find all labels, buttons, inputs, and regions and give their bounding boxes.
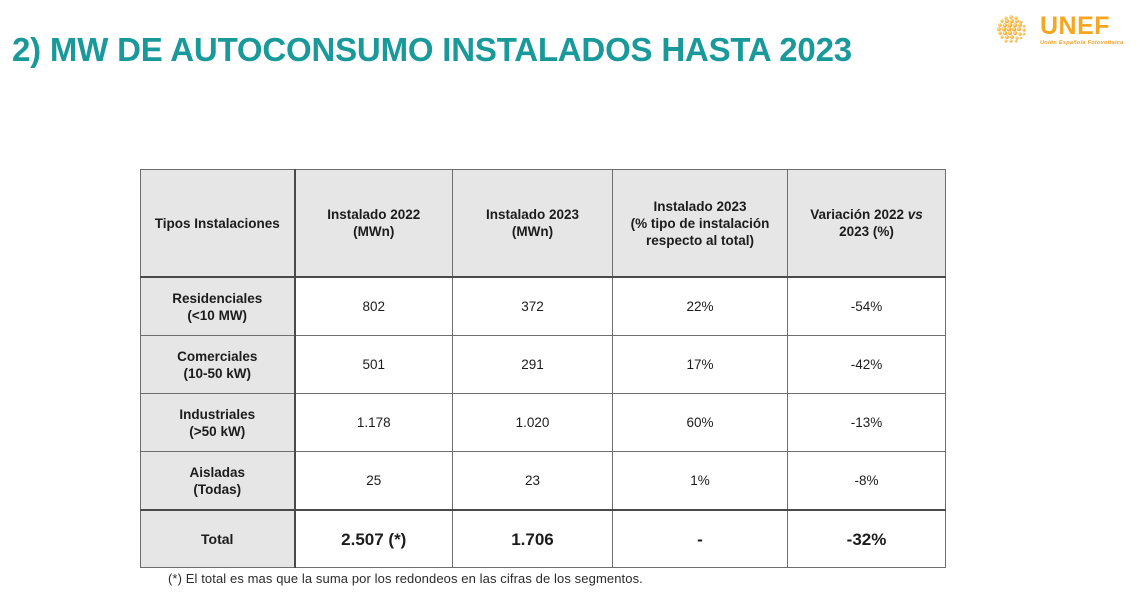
cell-instalado-2023: 372 — [453, 277, 613, 336]
cell-total-pct-tipo: - — [613, 510, 788, 568]
cell-instalado-2023: 23 — [453, 452, 613, 511]
header-line-1: Instalado 2023 — [613, 198, 787, 215]
cell-instalado-2022: 802 — [295, 277, 453, 336]
table-row: Aisladas (Todas) 25 23 1% -8% — [141, 452, 946, 511]
row-label-comerciales: Comerciales (10-50 kW) — [141, 336, 295, 394]
cell-instalado-2023: 1.020 — [453, 394, 613, 452]
row-label-industriales: Industriales (>50 kW) — [141, 394, 295, 452]
table-row: Comerciales (10-50 kW) 501 291 17% -42% — [141, 336, 946, 394]
cell-total-instalado-2023: 1.706 — [453, 510, 613, 568]
cell-variacion: -13% — [788, 394, 946, 452]
cell-total-instalado-2022: 2.507 (*) — [295, 510, 453, 568]
row-label-residenciales: Residenciales (<10 MW) — [141, 277, 295, 336]
header-line-2: (% tipo de instalación — [613, 215, 787, 232]
cell-variacion: -42% — [788, 336, 946, 394]
sun-sphere-dots-icon — [993, 10, 1033, 50]
table-row-total: Total 2.507 (*) 1.706 - -32% — [141, 510, 946, 568]
row-label-line-2: (>50 kW) — [141, 423, 294, 440]
table-row: Residenciales (<10 MW) 802 372 22% -54% — [141, 277, 946, 336]
row-label-line-1: Comerciales — [141, 348, 294, 365]
cell-instalado-2022: 25 — [295, 452, 453, 511]
unef-logo: UNEF Unión Española Fotovoltaica — [993, 8, 1133, 52]
header-line-1: Instalado 2022 — [296, 206, 453, 223]
row-label-line-1: Industriales — [141, 406, 294, 423]
cell-instalado-2022: 1.178 — [295, 394, 453, 452]
row-label-total: Total — [141, 510, 295, 568]
header-line-2: (MWn) — [453, 223, 612, 240]
row-label-line-1: Residenciales — [141, 290, 294, 307]
cell-instalado-2023: 291 — [453, 336, 613, 394]
cell-pct-tipo: 1% — [613, 452, 788, 511]
autoconsumo-table: Tipos Instalaciones Instalado 2022 (MWn)… — [140, 169, 946, 568]
header-line-1: Variación 2022 vs — [788, 206, 945, 223]
header-line-2: 2023 (%) — [788, 223, 945, 240]
row-label-line-1: Aisladas — [141, 464, 294, 481]
row-label-line-2: (<10 MW) — [141, 307, 294, 324]
logo-tagline: Unión Española Fotovoltaica — [1040, 39, 1124, 48]
logo-text: UNEF Unión Española Fotovoltaica — [1040, 12, 1124, 48]
cell-variacion: -54% — [788, 277, 946, 336]
cell-instalado-2022: 501 — [295, 336, 453, 394]
cell-pct-tipo: 22% — [613, 277, 788, 336]
column-header-variacion: Variación 2022 vs 2023 (%) — [788, 170, 946, 278]
table-header: Tipos Instalaciones Instalado 2022 (MWn)… — [141, 170, 946, 278]
table-body: Residenciales (<10 MW) 802 372 22% -54% … — [141, 277, 946, 568]
header-line-1: Instalado 2023 — [453, 206, 612, 223]
row-label-aisladas: Aisladas (Todas) — [141, 452, 295, 511]
header-line-3: respecto al total) — [613, 232, 787, 249]
cell-variacion: -8% — [788, 452, 946, 511]
table-row: Industriales (>50 kW) 1.178 1.020 60% -1… — [141, 394, 946, 452]
column-header-pct-tipo: Instalado 2023 (% tipo de instalación re… — [613, 170, 788, 278]
cell-total-variacion: -32% — [788, 510, 946, 568]
header-line-2: (MWn) — [296, 223, 453, 240]
row-label-line-2: (10-50 kW) — [141, 365, 294, 382]
cell-pct-tipo: 60% — [613, 394, 788, 452]
page-title: 2) MW DE AUTOCONSUMO INSTALADOS HASTA 20… — [12, 28, 892, 72]
table-footnote: (*) El total es mas que la suma por los … — [168, 571, 643, 586]
column-header-instalado-2022: Instalado 2022 (MWn) — [295, 170, 453, 278]
table-header-row: Tipos Instalaciones Instalado 2022 (MWn)… — [141, 170, 946, 278]
column-header-tipos: Tipos Instalaciones — [141, 170, 295, 278]
logo-wordmark: UNEF — [1040, 14, 1124, 39]
header-line-1: Tipos Instalaciones — [141, 215, 294, 232]
cell-pct-tipo: 17% — [613, 336, 788, 394]
row-label-line-2: (Todas) — [141, 481, 294, 498]
column-header-instalado-2023: Instalado 2023 (MWn) — [453, 170, 613, 278]
